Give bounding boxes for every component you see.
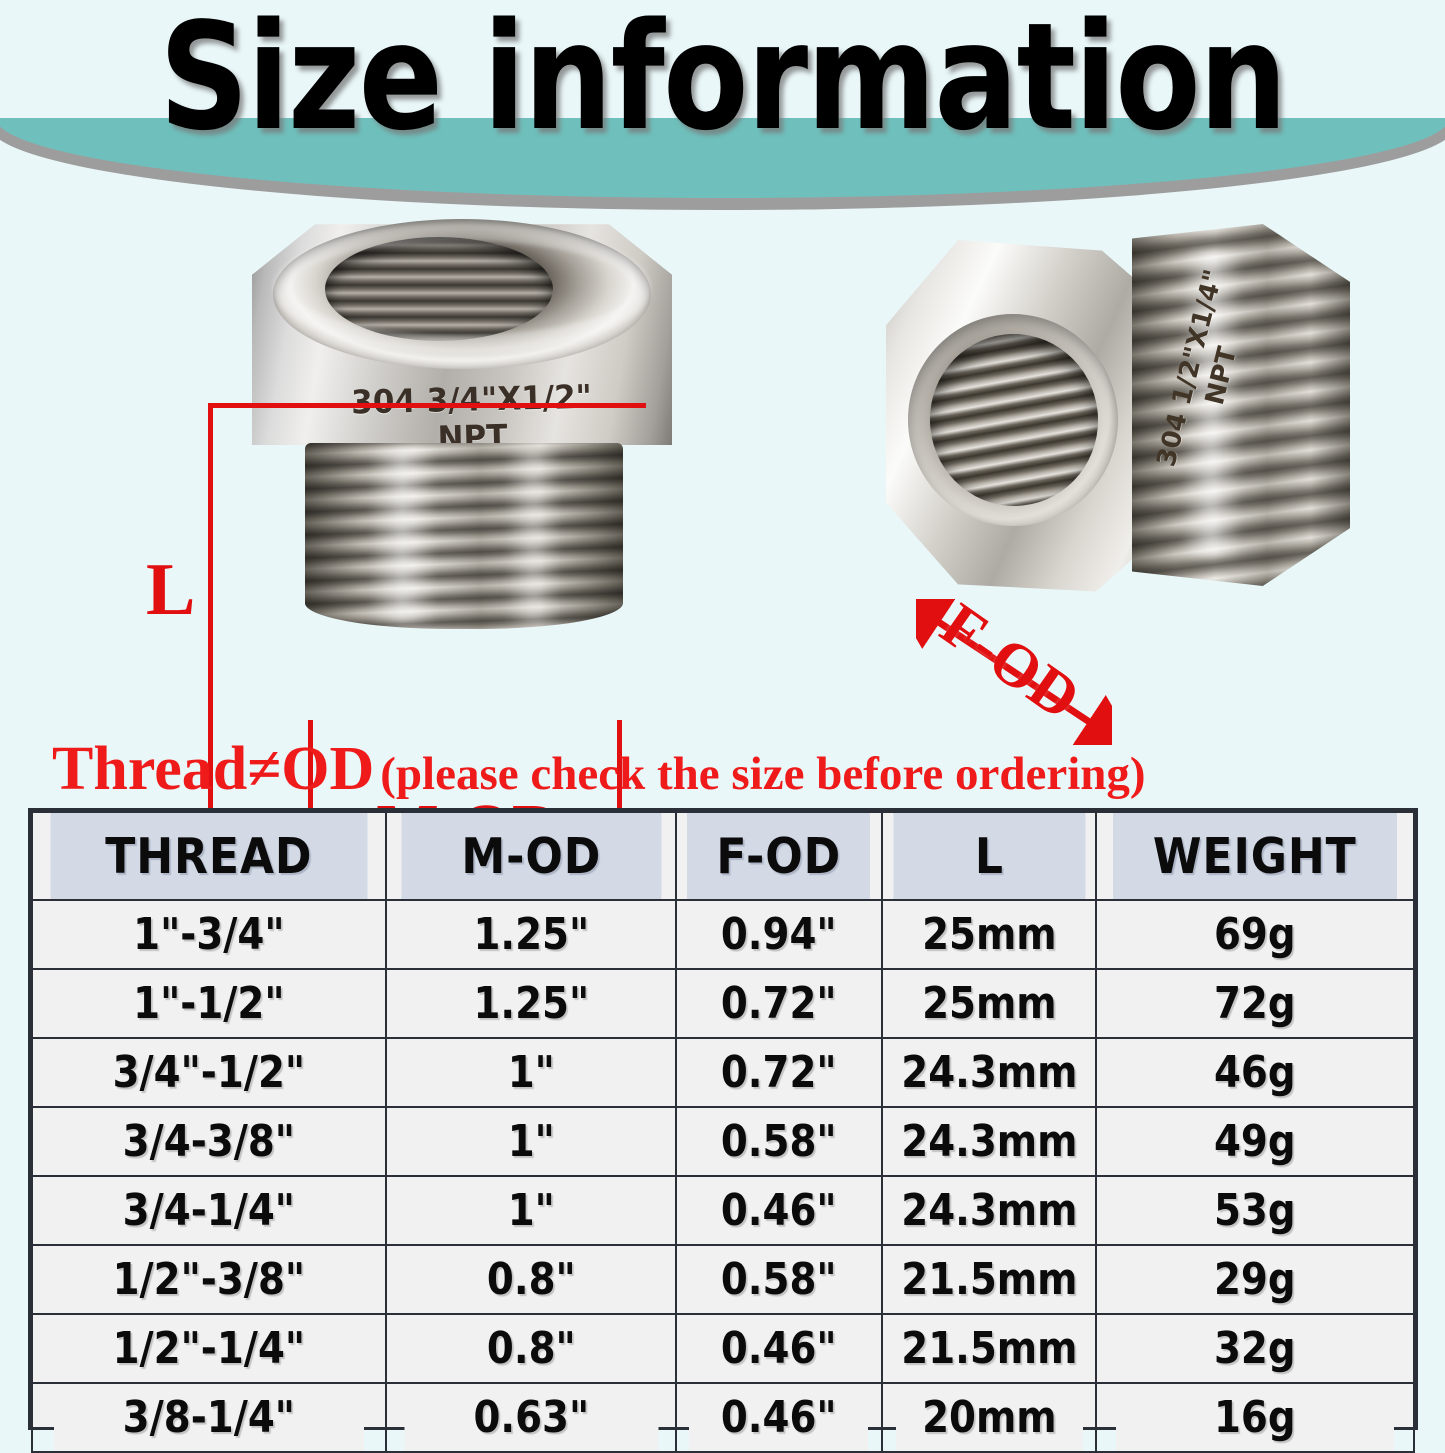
thread-highlight-b (505, 447, 561, 623)
product-illustration-area: 304 3/4"X1/2" NPT 304 1/2"X1/4" NPT L (0, 175, 1445, 720)
hex-bevel-highlight (273, 223, 651, 353)
product-photo-right: 304 1/2"X1/4" NPT (880, 210, 1350, 630)
length-label: L (146, 553, 195, 627)
cell-weight: 16g (1116, 1383, 1395, 1452)
page-header: Size information (0, 0, 1445, 175)
cell-thread: 3/4-1/4" (53, 1176, 364, 1245)
cell-weight: 49g (1116, 1107, 1395, 1176)
size-warning: Thread≠OD(please check the size before o… (52, 738, 1392, 798)
cell-f-od: 0.46" (689, 1383, 870, 1452)
cell-weight: 53g (1116, 1176, 1395, 1245)
product-photo-left: 304 3/4"X1/2" NPT (247, 215, 677, 635)
cell-l: 24.3mm (895, 1176, 1084, 1245)
cell-l: 25mm (895, 900, 1084, 969)
table-row: 1"-1/2"1.25"0.72"25mm72g (32, 969, 1414, 1038)
cell-f-od: 0.46" (689, 1314, 870, 1383)
size-information-page: Size information 304 3/4"X1/2" NPT (0, 0, 1445, 1445)
cell-thread: 1/2"-1/4" (53, 1314, 364, 1383)
cell-m-od: 1.25" (403, 969, 659, 1038)
cell-thread: 3/4-3/8" (53, 1107, 364, 1176)
cell-l: 21.5mm (895, 1245, 1084, 1314)
table-header-row: THREAD M-OD F-OD L WEIGHT (32, 812, 1414, 900)
warning-emphasis: Thread≠OD (52, 735, 374, 803)
cell-thread: 1"-3/4" (53, 900, 364, 969)
cell-f-od: 0.58" (689, 1245, 870, 1314)
column-header-thread: THREAD (50, 812, 368, 900)
cell-m-od: 0.8" (403, 1314, 659, 1383)
warning-note: (please check the size before ordering) (380, 748, 1145, 800)
thread-highlight-a (367, 447, 437, 623)
cell-f-od: 0.72" (689, 969, 870, 1038)
cell-f-od: 0.58" (689, 1107, 870, 1176)
cell-weight: 32g (1116, 1314, 1395, 1383)
column-header-l: L (892, 812, 1085, 900)
size-table-container: THREAD M-OD F-OD L WEIGHT 1"-3/4"1.25"0.… (28, 808, 1418, 1430)
cell-l: 20mm (895, 1383, 1084, 1452)
table-row: 1/2"-3/8"0.8"0.58"21.5mm29g (32, 1245, 1414, 1314)
cell-weight: 69g (1116, 900, 1395, 969)
column-header-m-od: M-OD (400, 812, 662, 900)
male-threads-left (305, 443, 623, 629)
page-title: Size information (116, 2, 1330, 152)
length-tick-top (208, 403, 646, 408)
cell-f-od: 0.72" (689, 1038, 870, 1107)
cell-thread: 3/8-1/4" (53, 1383, 364, 1452)
cell-f-od: 0.94" (689, 900, 870, 969)
table-row: 3/4-3/8"1"0.58"24.3mm49g (32, 1107, 1414, 1176)
cell-l: 24.3mm (895, 1038, 1084, 1107)
table-row: 3/4"-1/2"1"0.72"24.3mm46g (32, 1038, 1414, 1107)
cell-m-od: 1" (403, 1176, 659, 1245)
cell-l: 25mm (895, 969, 1084, 1038)
cell-weight: 72g (1116, 969, 1395, 1038)
cell-thread: 3/4"-1/2" (53, 1038, 364, 1107)
cell-m-od: 0.8" (403, 1245, 659, 1314)
cell-f-od: 0.46" (689, 1176, 870, 1245)
cell-m-od: 1" (403, 1107, 659, 1176)
cell-thread: 1/2"-3/8" (53, 1245, 364, 1314)
engraving-left-line1: 304 3/4"X1/2" (326, 378, 617, 423)
cell-m-od: 1" (403, 1038, 659, 1107)
cell-weight: 29g (1116, 1245, 1395, 1314)
cell-thread: 1"-1/2" (53, 969, 364, 1038)
table-row: 3/4-1/4"1"0.46"24.3mm53g (32, 1176, 1414, 1245)
column-header-weight: WEIGHT (1112, 812, 1398, 900)
table-row: 1/2"-1/4"0.8"0.46"21.5mm32g (32, 1314, 1414, 1383)
cell-m-od: 1.25" (403, 900, 659, 969)
cell-m-od: 0.63" (403, 1383, 659, 1452)
table-body: 1"-3/4"1.25"0.94"25mm69g1"-1/2"1.25"0.72… (32, 900, 1414, 1452)
size-table: THREAD M-OD F-OD L WEIGHT 1"-3/4"1.25"0.… (31, 811, 1415, 1453)
table-row: 1"-3/4"1.25"0.94"25mm69g (32, 900, 1414, 969)
cell-l: 24.3mm (895, 1107, 1084, 1176)
cell-weight: 46g (1116, 1038, 1395, 1107)
table-row: 3/8-1/4"0.63"0.46"20mm16g (32, 1383, 1414, 1452)
column-header-f-od: F-OD (687, 812, 872, 900)
cell-l: 21.5mm (895, 1314, 1084, 1383)
